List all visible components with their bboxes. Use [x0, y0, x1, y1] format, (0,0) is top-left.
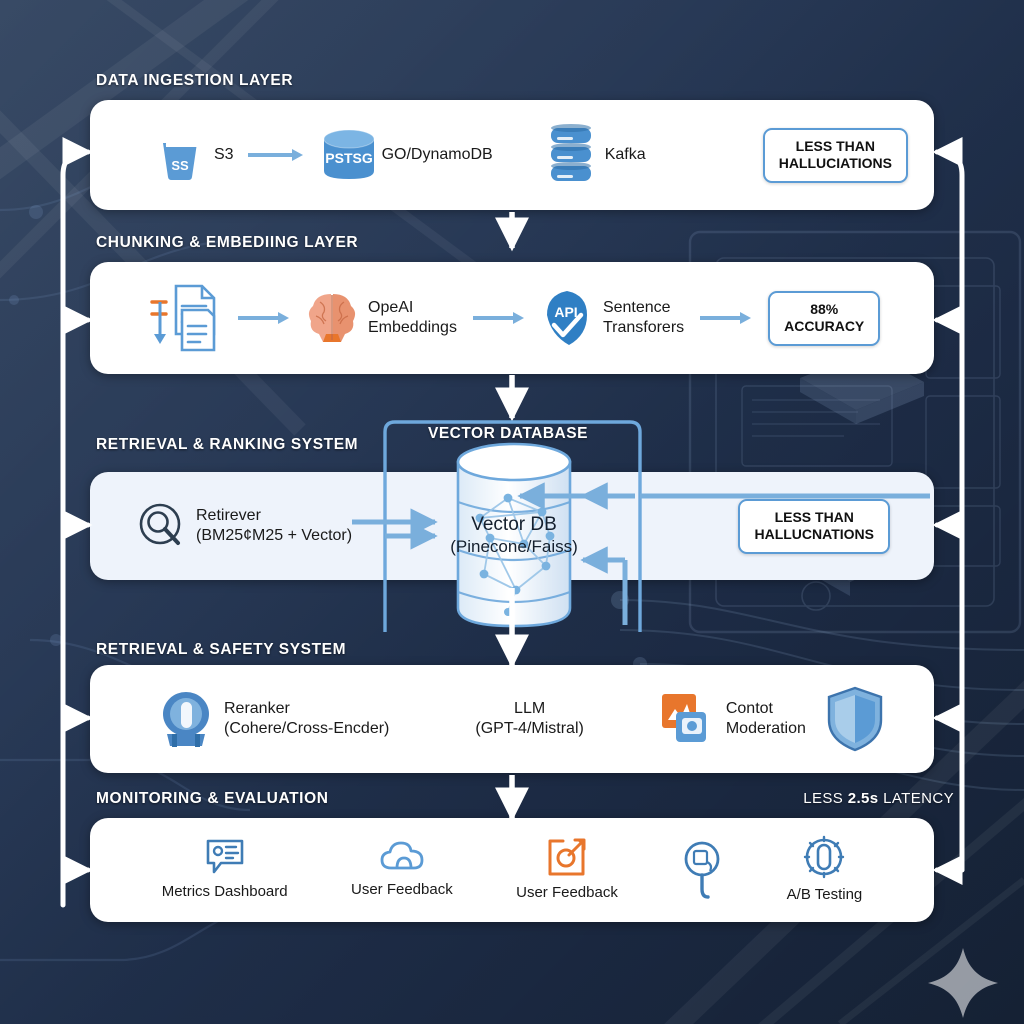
vector-db-graphic: [450, 440, 578, 630]
card-monitoring-evaluation[interactable]: Metrics Dashboard User Feedback User Fee…: [90, 818, 934, 922]
flow-arrow-2: [238, 310, 290, 326]
card-retrieval-safety[interactable]: Reranker (Cohere/Cross-Encder) LLM (GPT-…: [90, 665, 934, 773]
node-postgres-dynamodb[interactable]: PSTSG GO/DynamoDB: [318, 127, 493, 183]
node-kafka[interactable]: Kafka: [547, 124, 646, 186]
node-label-metrics-dashboard: Metrics Dashboard: [162, 883, 288, 901]
badge-accuracy-value: 88%: [810, 301, 838, 317]
node-label-content-moderation: Contot Moderation: [726, 699, 806, 738]
node-ab-testing[interactable]: A/B Testing: [787, 835, 863, 904]
latency-value: 2.5s: [848, 790, 879, 807]
node-openai-embeddings[interactable]: OpeAI Embeddings: [306, 290, 457, 346]
node-metrics-dashboard[interactable]: Metrics Dashboard: [162, 838, 288, 901]
vector-db-cylinder[interactable]: Vector DB (Pinecone/Faiss): [450, 440, 578, 630]
shield-icon: [826, 686, 884, 752]
s3-bucket-icon: SS: [156, 129, 204, 181]
layer-title-data-ingestion: DATA INGESTION LAYER: [96, 72, 293, 90]
card-data-ingestion[interactable]: SS S3 PSTSG GO/DynamoDB: [90, 100, 934, 210]
badge-accuracy-label: ACCURACY: [784, 318, 864, 334]
layer-title-retrieval-safety: RETRIEVAL & SAFETY SYSTEM: [96, 641, 346, 659]
latency-note: LESS 2.5s LATENCY: [803, 790, 954, 807]
badge-hallucinations-retrieval: LESS THAN HALLUCNATIONS: [738, 499, 890, 554]
node-llm[interactable]: LLM (GPT-4/Mistral): [475, 699, 583, 738]
s3-icon-text: SS: [171, 158, 189, 173]
brain-icon: [306, 290, 358, 346]
flow-arrow-3: [473, 310, 525, 326]
ab-testing-icon: [803, 835, 845, 879]
flow-arrow-4: [700, 310, 752, 326]
card-chunking-embedding[interactable]: OpeAI Embeddings API Sentence Transforer…: [90, 262, 934, 374]
reranker-robot-icon: [158, 690, 214, 748]
badge-accuracy: 88% ACCURACY: [768, 291, 880, 346]
content-moderation-icon: [660, 692, 716, 746]
kafka-stack-icon: [547, 124, 595, 186]
node-label-user-feedback-target: User Feedback: [516, 884, 618, 902]
node-s3[interactable]: SS S3: [156, 129, 234, 181]
target-arrow-icon: [547, 837, 587, 877]
node-label-ab-testing: A/B Testing: [787, 886, 863, 904]
layer-title-chunking-embedding: CHUNKING & EMBEDIING LAYER: [96, 234, 358, 252]
magnifier-doc-icon: [681, 840, 723, 900]
node-inspection[interactable]: [681, 840, 723, 900]
node-document-chunking[interactable]: [144, 282, 222, 354]
cloud-icon: [380, 840, 424, 874]
node-label-sentence-transformers: Sentence Transforers: [603, 298, 684, 337]
node-label-reranker: Reranker (Cohere/Cross-Encder): [224, 699, 389, 738]
badge-line-1: LESS THAN: [796, 138, 875, 154]
node-label-user-feedback-cloud: User Feedback: [351, 881, 453, 899]
node-label-llm: LLM (GPT-4/Mistral): [475, 699, 583, 738]
node-reranker[interactable]: Reranker (Cohere/Cross-Encder): [158, 690, 389, 748]
node-safety-shield[interactable]: [826, 686, 884, 752]
node-label-retriever: Retirever (BM25¢M25 + Vector): [196, 506, 352, 545]
node-user-feedback-target[interactable]: User Feedback: [516, 837, 618, 902]
node-sentence-transformers[interactable]: API Sentence Transforers: [541, 289, 684, 347]
magnifier-icon: [138, 502, 186, 550]
postgres-icon-text: PSTSG: [325, 150, 373, 166]
metrics-chat-icon: [205, 838, 245, 876]
latency-prefix: LESS: [803, 790, 848, 807]
api-badge-icon: API: [541, 289, 593, 347]
node-user-feedback-cloud[interactable]: User Feedback: [351, 840, 453, 899]
node-label-dynamodb: GO/DynamoDB: [382, 145, 493, 165]
node-label-s3: S3: [214, 145, 234, 165]
layer-title-retrieval-ranking: RETRIEVAL & RANKING SYSTEM: [96, 436, 358, 454]
vector-database-title: VECTOR DATABASE: [428, 425, 588, 443]
api-icon-text: API: [554, 304, 577, 320]
flow-arrow-1: [248, 147, 304, 163]
documents-chunk-icon: [144, 282, 222, 354]
layer-title-monitoring-evaluation: MONITORING & EVALUATION: [96, 790, 329, 808]
latency-suffix: LATENCY: [879, 790, 954, 807]
node-label-kafka: Kafka: [605, 145, 646, 165]
node-label-openai: OpeAI Embeddings: [368, 298, 457, 337]
badge-hallucinations-ingestion: LESS THAN HALLUCIATIONS: [763, 128, 908, 183]
node-content-moderation[interactable]: Contot Moderation: [660, 692, 806, 746]
database-cylinder-icon: PSTSG: [318, 127, 380, 183]
badge-line-2: HALLUCIATIONS: [779, 155, 892, 171]
badge-line-2: HALLUCNATIONS: [754, 526, 874, 542]
badge-line-1: LESS THAN: [775, 509, 854, 525]
node-retriever[interactable]: Retirever (BM25¢M25 + Vector): [138, 502, 352, 550]
